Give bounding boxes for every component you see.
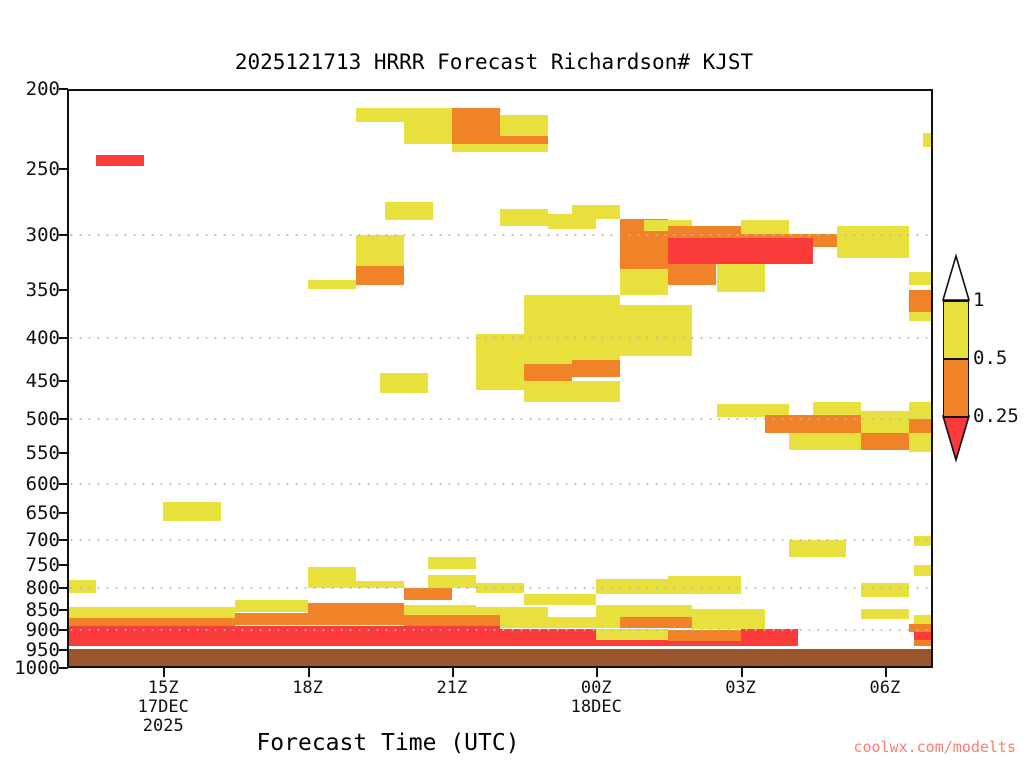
heatmap-cell	[572, 205, 620, 219]
y-axis-tick-label: 450	[26, 370, 60, 392]
y-axis-tick-label: 850	[26, 599, 60, 621]
heatmap-cell	[524, 381, 620, 403]
heatmap-cell	[717, 264, 765, 293]
heatmap-cell	[452, 108, 500, 131]
heatmap-cell	[909, 433, 933, 452]
heatmap-cell	[914, 632, 933, 640]
x-axis-tick-label: 00Z18DEC	[571, 679, 622, 717]
heatmap-cell	[380, 373, 428, 393]
x-axis-tick-mark	[741, 668, 743, 677]
y-axis-tick-label: 650	[26, 502, 60, 524]
heatmap-cell	[861, 609, 909, 619]
y-axis-tick-label: 200	[26, 78, 60, 100]
heatmap-cell	[428, 575, 476, 587]
x-axis-ticks	[67, 668, 933, 678]
heatmap-cell	[861, 411, 909, 432]
heatmap-cell	[385, 202, 433, 220]
heatmap-cell	[356, 266, 404, 285]
heatmap-cell	[356, 235, 404, 266]
heatmap-cell	[837, 226, 909, 258]
heatmap-cell	[909, 272, 933, 285]
y-axis-tick-label: 500	[26, 408, 60, 430]
y-axis-tick-label: 250	[26, 158, 60, 180]
y-axis-tick-label: 700	[26, 529, 60, 551]
heatmap-cell	[428, 557, 476, 569]
heatmap-cell	[909, 312, 933, 321]
colorbar-divider	[943, 416, 969, 418]
x-axis-tick-label: 06Z	[870, 679, 901, 698]
chart-root: 2025121713 HRRR Forecast Richardson# KJS…	[0, 0, 1024, 768]
heatmap-cell	[308, 567, 356, 588]
heatmap-cell	[668, 641, 740, 646]
heatmap-cell	[914, 615, 933, 624]
heatmap-cell	[96, 155, 144, 167]
heatmap-cell	[813, 402, 861, 415]
heatmap-cell	[404, 588, 452, 600]
terrain-shading	[67, 649, 933, 668]
chart-title: 2025121713 HRRR Forecast Richardson# KJS…	[0, 50, 1024, 74]
x-axis-tick-label: 21Z	[437, 679, 468, 698]
heatmap-cell	[909, 402, 933, 418]
heatmap-cell	[67, 607, 235, 617]
colorbar-divider	[943, 358, 969, 360]
colorbar-tick-label: 0.5	[973, 347, 1007, 369]
y-axis-tick-label: 600	[26, 473, 60, 495]
heatmap-cell	[596, 629, 668, 640]
plot-area	[67, 89, 933, 668]
heatmap-cell	[620, 235, 668, 269]
y-axis-tick-label: 550	[26, 442, 60, 464]
heatmap-cell	[476, 583, 524, 593]
heatmap-cell	[404, 605, 476, 614]
y-axis-tick-label: 800	[26, 577, 60, 599]
heatmap-cell	[909, 624, 933, 632]
heatmap-cell	[308, 280, 356, 289]
heatmap-cell	[452, 131, 500, 144]
x-axis-tick-mark	[308, 668, 310, 677]
heatmap-cell	[861, 433, 909, 450]
heatmap-cell	[452, 144, 548, 152]
heatmap-cell	[356, 581, 404, 588]
heatmap-cell	[596, 640, 668, 646]
x-axis-tick-label: 18Z	[292, 679, 323, 698]
heatmap-cell	[308, 603, 404, 613]
heatmap-cell	[789, 540, 847, 558]
colorbar-tick-label: 1	[973, 289, 984, 311]
heatmap-cell	[692, 609, 764, 619]
colorbar-segment	[943, 300, 969, 358]
heatmap-cell	[404, 615, 500, 626]
heatmap-cell	[572, 295, 620, 360]
heatmap-cell	[668, 264, 716, 285]
colorbar: 10.50.25	[943, 300, 969, 476]
heatmap-cell	[909, 290, 933, 312]
y-axis-tick-label: 400	[26, 327, 60, 349]
heatmap-cell	[741, 220, 789, 233]
x-axis-tick-mark	[885, 668, 887, 677]
heatmap-cell	[524, 295, 572, 333]
heatmap-cell	[923, 133, 933, 147]
heatmap-cell	[356, 108, 404, 121]
heatmap-cell	[476, 334, 572, 365]
heatmap-cell	[909, 419, 933, 433]
x-axis-tick-mark	[452, 668, 454, 677]
colorbar-tick-label: 0.25	[973, 405, 1019, 427]
heatmap-cell	[861, 583, 909, 596]
heatmap-cell	[914, 536, 933, 546]
x-axis-tick-mark	[596, 668, 598, 677]
y-axis-tick-label: 750	[26, 554, 60, 576]
heatmap-cell	[765, 415, 861, 433]
heatmap-cell	[500, 115, 548, 136]
heatmap-cell	[235, 613, 403, 625]
y-axis-tick-label: 350	[26, 279, 60, 301]
heatmap-cell	[596, 605, 692, 617]
heatmap-cell	[524, 594, 596, 605]
heatmap-cell	[620, 269, 668, 295]
y-axis-labels: 2002503003504004505005506006507007508008…	[0, 89, 60, 668]
colorbar-segment	[943, 358, 969, 416]
x-axis-tick-label: 03Z	[725, 679, 756, 698]
heatmap-cell	[235, 600, 307, 612]
heatmap-cell	[500, 209, 548, 227]
x-axis-tick-mark	[163, 668, 165, 677]
heatmap-cell	[668, 630, 740, 641]
heatmap-cell	[620, 305, 692, 355]
heatmap-cell	[741, 629, 799, 645]
heatmap-cell	[500, 136, 548, 144]
heatmap-cell	[572, 360, 620, 377]
heatmap-cell	[668, 238, 812, 263]
heatmap-cell	[163, 502, 221, 521]
colorbar-divider	[943, 300, 969, 302]
heatmap-cell	[620, 617, 692, 628]
heatmap-cell	[500, 617, 620, 628]
watermark: coolwx.com/modelts	[853, 738, 1016, 756]
heatmap-cell	[914, 640, 933, 646]
heatmap-cell	[596, 579, 668, 595]
y-axis-tick-label: 1000	[14, 657, 60, 679]
heatmap-cell	[668, 226, 740, 238]
heatmap-cell	[524, 364, 572, 380]
heatmap-cell	[789, 433, 861, 450]
heatmap-cell	[67, 626, 500, 646]
heatmap-cell	[914, 565, 933, 576]
heatmap-cell	[404, 108, 452, 144]
heatmap-cell	[668, 576, 740, 594]
heatmap-cell	[692, 619, 764, 630]
heatmap-cells	[67, 89, 933, 668]
x-axis-tick-label: 15Z17DEC2025	[138, 679, 189, 736]
heatmap-cell	[67, 580, 96, 594]
heatmap-cell	[500, 629, 596, 645]
heatmap-cell	[476, 364, 524, 390]
y-axis-tick-label: 300	[26, 224, 60, 246]
